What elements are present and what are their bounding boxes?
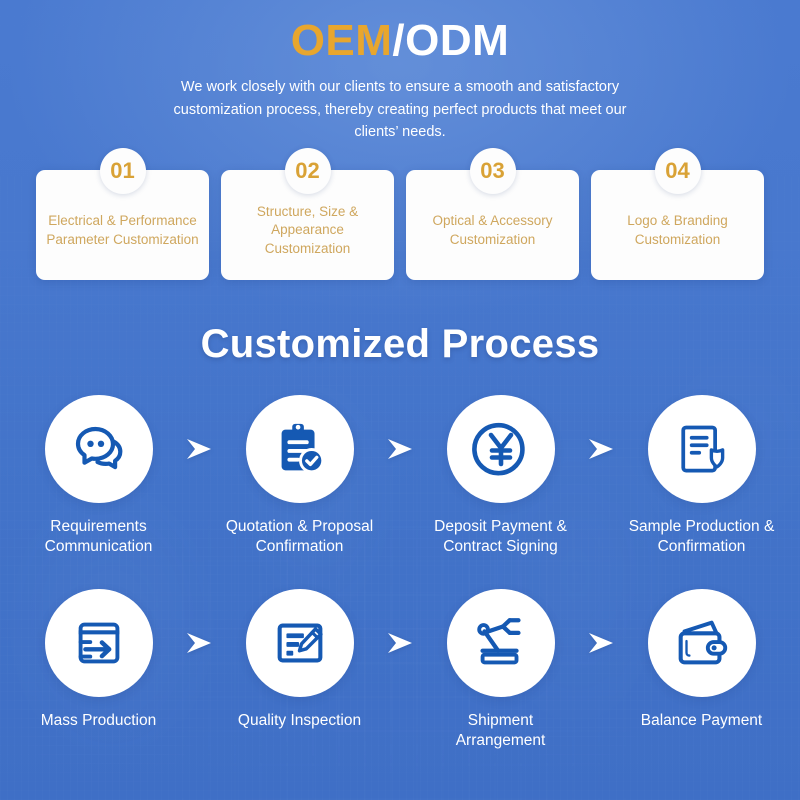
chevron-right-icon [579,395,623,503]
process-step[interactable]: Balance Payment [623,589,780,731]
step-icon-circle [447,589,555,697]
yen-coin-icon [469,417,533,481]
customization-cards: 01 Electrical & Performance Parameter Cu… [0,170,800,280]
card-number-badge: 04 [655,148,701,194]
card-label: Electrical & Performance Parameter Custo… [44,212,201,248]
customization-card[interactable]: 04 Logo & Branding Customization [591,170,764,280]
document-shield-icon [672,419,732,479]
chevron-right-icon [177,395,221,503]
step-label: Requirements Communication [20,517,177,557]
robot-arm-icon [470,612,532,674]
chevron-right-icon [177,589,221,697]
box-arrow-icon [68,612,130,674]
customization-card[interactable]: 01 Electrical & Performance Parameter Cu… [36,170,209,280]
chevron-right-icon [579,589,623,697]
page-subtitle: We work closely with our clients to ensu… [150,76,650,143]
card-number-badge: 02 [285,148,331,194]
step-icon-circle [648,589,756,697]
title-odm: ODM [405,16,509,65]
process-step[interactable]: Sample Production & Confirmation [623,395,780,557]
step-icon-circle [246,589,354,697]
card-label: Logo & Branding Customization [599,212,756,248]
card-number-badge: 03 [470,148,516,194]
process-row-1: Requirements Communication [0,395,800,557]
clipboard-check-icon [269,418,331,480]
page-title: OEM/ODM [0,0,800,64]
card-number-badge: 01 [100,148,146,194]
step-label: Mass Production [41,711,156,731]
document-pencil-icon [269,612,331,674]
step-icon-circle [246,395,354,503]
section-title: Customized Process [0,322,800,367]
step-label: Sample Production & Confirmation [623,517,780,557]
step-label: Quotation & Proposal Confirmation [221,517,378,557]
process-step[interactable]: Quotation & Proposal Confirmation [221,395,378,557]
step-icon-circle [447,395,555,503]
chevron-right-icon [378,395,422,503]
step-icon-circle [45,589,153,697]
step-label: Quality Inspection [238,711,361,731]
step-icon-circle [45,395,153,503]
chevron-right-icon [378,589,422,697]
speech-bubble-icon [67,417,131,481]
step-icon-circle [648,395,756,503]
customization-card[interactable]: 03 Optical & Accessory Customization [406,170,579,280]
title-oem: OEM [291,16,393,65]
step-label: Deposit Payment & Contract Signing [422,517,579,557]
process-step[interactable]: Shipment Arrangement [422,589,579,751]
card-label: Optical & Accessory Customization [414,212,571,248]
process-step[interactable]: Requirements Communication [20,395,177,557]
process-row-2: Mass Production [0,589,800,751]
title-slash: / [392,16,405,65]
customization-card[interactable]: 02 Structure, Size & Appearance Customiz… [221,170,394,280]
step-label: Balance Payment [641,711,763,731]
card-label: Structure, Size & Appearance Customizati… [229,203,386,258]
step-label: Shipment Arrangement [422,711,579,751]
process-step[interactable]: Quality Inspection [221,589,378,731]
process-step[interactable]: Deposit Payment & Contract Signing [422,395,579,557]
oem-odm-poster: OEM/ODM We work closely with our clients… [0,0,800,800]
process-step[interactable]: Mass Production [20,589,177,731]
wallet-icon [671,612,733,674]
